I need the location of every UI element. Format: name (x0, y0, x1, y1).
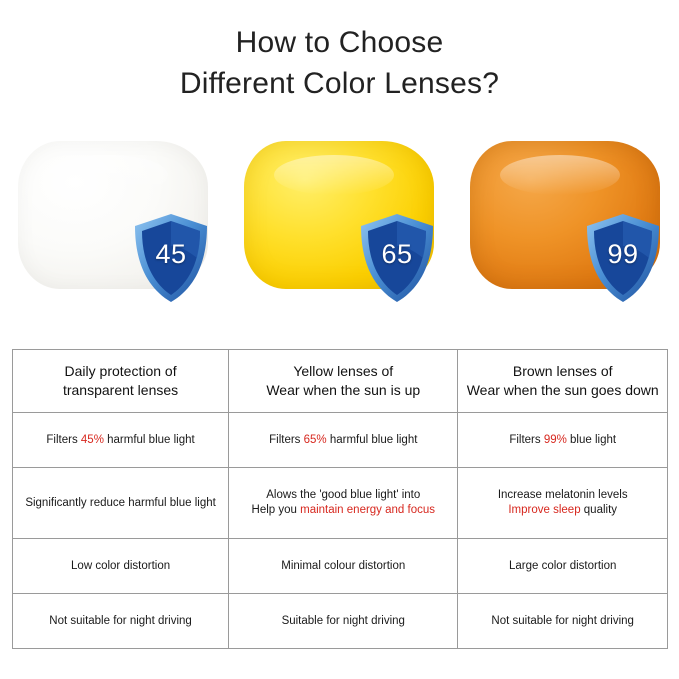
header-cell-brown: Brown lenses of Wear when the sun goes d… (458, 350, 668, 413)
filter-yellow-post: harmful blue light (327, 434, 418, 446)
header-clear-line1: Daily protection of (21, 362, 220, 381)
filter-clear-pre: Filters (46, 434, 81, 446)
table-row-night-driving: Not suitable for night driving Suitable … (13, 594, 668, 649)
header-cell-clear: Daily protection of transparent lenses (13, 350, 229, 413)
page-title: How to Choose Different Color Lenses? (0, 22, 679, 104)
cell-filter-clear: Filters 45% harmful blue light (13, 413, 229, 468)
table-header-row: Daily protection of transparent lenses Y… (13, 350, 668, 413)
lens-gloss-highlight (48, 155, 168, 195)
header-yellow-line1: Yellow lenses of (237, 362, 449, 381)
cell-filter-yellow: Filters 65% harmful blue light (229, 413, 458, 468)
filter-brown-post: blue light (567, 434, 616, 446)
table-row-distortion: Low color distortion Minimal colour dist… (13, 539, 668, 594)
lens-gloss-highlight (500, 155, 620, 195)
benefit-brown-line2-post: quality (581, 504, 617, 516)
benefit-brown-line2: Improve sleep quality (466, 503, 659, 518)
title-line-1: How to Choose (0, 22, 679, 63)
benefit-brown-line2-emphasis: Improve sleep (508, 504, 580, 516)
lens-cell-clear: 45 (0, 133, 226, 323)
cell-night-yellow: Suitable for night driving (229, 594, 458, 649)
benefit-yellow-line2: Help you maintain energy and focus (237, 503, 449, 518)
lens-gloss-highlight (274, 155, 394, 195)
comparison-table: Daily protection of transparent lenses Y… (12, 349, 668, 649)
benefit-yellow-line2-pre: Help you (252, 504, 301, 516)
table-row-filtration: Filters 45% harmful blue light Filters 6… (13, 413, 668, 468)
infographic-page: How to Choose Different Color Lenses? (0, 0, 679, 679)
badge-value-brown: 99 (583, 212, 663, 304)
filter-yellow-pre: Filters (269, 434, 304, 446)
filter-clear-post: harmful blue light (104, 434, 195, 446)
cell-benefit-yellow: Alows the 'good blue light' into Help yo… (229, 468, 458, 539)
header-cell-yellow: Yellow lenses of Wear when the sun is up (229, 350, 458, 413)
header-yellow-line2: Wear when the sun is up (237, 381, 449, 400)
cell-filter-brown: Filters 99% blue light (458, 413, 668, 468)
benefit-brown-line1: Increase melatonin levels (466, 488, 659, 503)
cell-distortion-brown: Large color distortion (458, 539, 668, 594)
cell-benefit-clear: Significantly reduce harmful blue light (13, 468, 229, 539)
filter-brown-value: 99% (544, 434, 567, 446)
cell-night-brown: Not suitable for night driving (458, 594, 668, 649)
header-clear-line2: transparent lenses (21, 381, 220, 400)
shield-icon-45: 45 (131, 212, 211, 304)
benefit-clear-line1: Significantly reduce harmful blue light (21, 496, 220, 511)
lens-cell-yellow: 65 (226, 133, 452, 323)
cell-benefit-brown: Increase melatonin levels Improve sleep … (458, 468, 668, 539)
lens-cell-brown: 99 (452, 133, 678, 323)
badge-value-yellow: 65 (357, 212, 437, 304)
shield-icon-99: 99 (583, 212, 663, 304)
shield-icon-65: 65 (357, 212, 437, 304)
benefit-yellow-line1: Alows the 'good blue light' into (237, 488, 449, 503)
header-brown-line1: Brown lenses of (466, 362, 659, 381)
header-brown-line2: Wear when the sun goes down (466, 381, 659, 400)
title-line-2: Different Color Lenses? (0, 63, 679, 104)
cell-night-clear: Not suitable for night driving (13, 594, 229, 649)
badge-value-clear: 45 (131, 212, 211, 304)
cell-distortion-clear: Low color distortion (13, 539, 229, 594)
filter-brown-pre: Filters (509, 434, 544, 446)
filter-yellow-value: 65% (304, 434, 327, 446)
filter-clear-value: 45% (81, 434, 104, 446)
cell-distortion-yellow: Minimal colour distortion (229, 539, 458, 594)
benefit-yellow-line2-emphasis: maintain energy and focus (300, 504, 435, 516)
lens-illustration-row: 45 (0, 133, 679, 323)
table-row-benefit: Significantly reduce harmful blue light … (13, 468, 668, 539)
